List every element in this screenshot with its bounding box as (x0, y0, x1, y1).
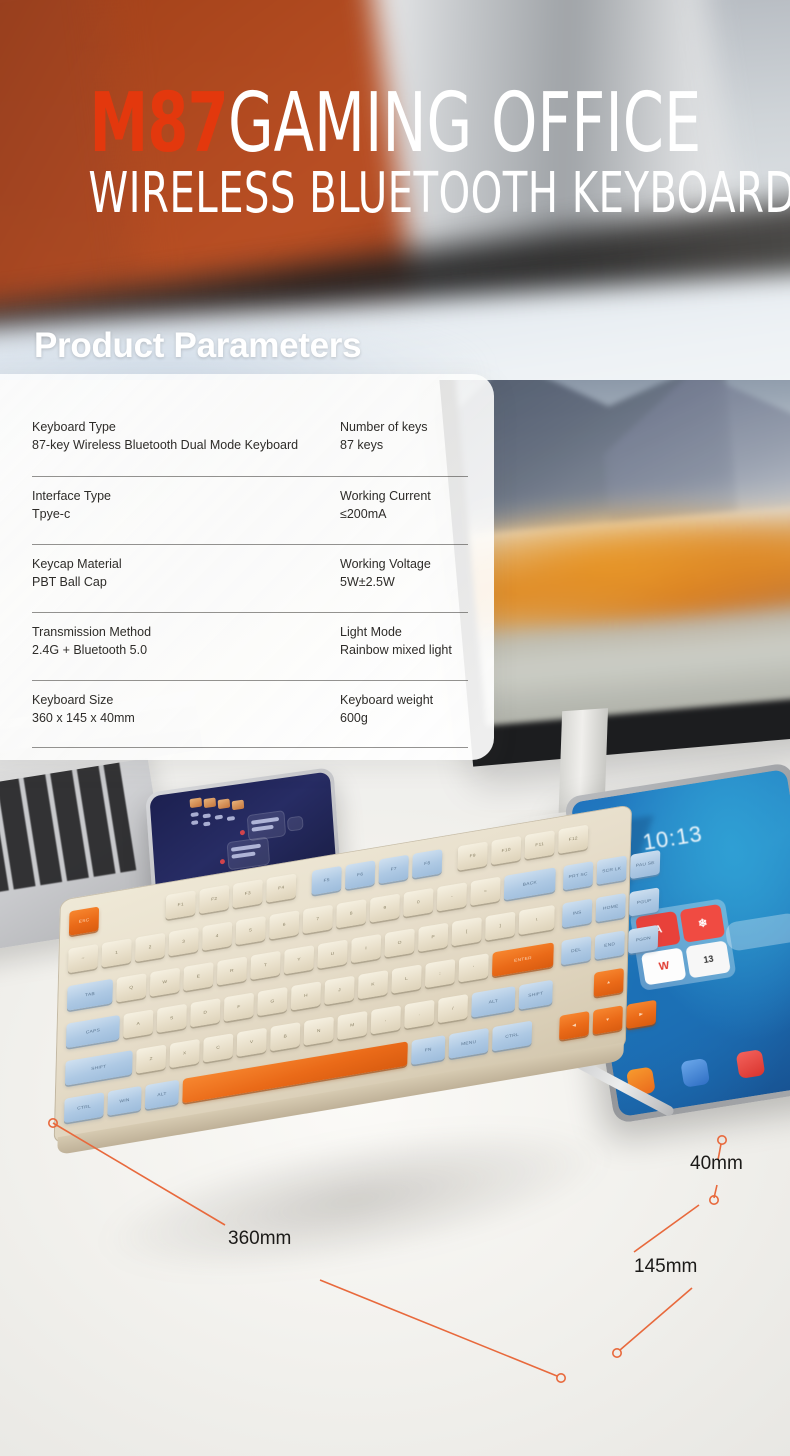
keycap-[interactable]: , (371, 1005, 401, 1034)
keycap-i[interactable]: I (351, 934, 381, 963)
spec-label: Keyboard Type (32, 419, 340, 437)
keycap-[interactable]: / (438, 994, 468, 1023)
spec-cell-left: Transmission Method2.4G + Bluetooth 5.0 (32, 624, 340, 660)
phone-text-line (203, 821, 210, 826)
spec-value: 87 keys (340, 437, 468, 455)
keycap-z[interactable]: Z (136, 1044, 166, 1073)
phone-text-line (227, 816, 235, 821)
spec-label: Working Voltage (340, 556, 468, 574)
keycap-fn[interactable]: FN (411, 1035, 445, 1065)
keycap-f12[interactable]: F12 (558, 825, 588, 854)
keycap-5[interactable]: 5 (236, 916, 266, 945)
hero-title-rest: GAMING OFFICE (228, 76, 701, 171)
spec-value: 2.4G + Bluetooth 5.0 (32, 642, 340, 660)
hero-subtitle-text: WIRELESS BLUETOOTH KEYBOARD (88, 165, 790, 224)
keycap-w[interactable]: W (150, 968, 180, 997)
keycap-[interactable]: = (470, 877, 500, 906)
keycap-[interactable]: ~ (68, 944, 98, 973)
keycap-y[interactable]: Y (284, 945, 314, 974)
keycap-f8[interactable]: F8 (412, 849, 442, 878)
keycap-8[interactable]: 8 (336, 899, 366, 928)
keycap-f7[interactable]: F7 (379, 855, 409, 884)
keycap-c[interactable]: C (203, 1033, 233, 1062)
app-icon-book (735, 1049, 765, 1079)
phone-text-line (215, 815, 223, 820)
spec-value: ≤200mA (340, 506, 468, 524)
keycap-[interactable]: \ (519, 905, 555, 935)
spec-row: Transmission Method2.4G + Bluetooth 5.0L… (32, 612, 468, 680)
keycap-enter[interactable]: ENTER (492, 942, 554, 977)
keycap-f2[interactable]: F2 (199, 885, 229, 914)
spec-cell-right: Keyboard weight600g (340, 692, 468, 728)
spec-table: Keyboard Type87-key Wireless Bluetooth D… (32, 408, 468, 748)
spec-cell-left: Keyboard Type87-key Wireless Bluetooth D… (32, 419, 340, 455)
keycap-[interactable]: ▶ (626, 1000, 656, 1029)
keycap-2[interactable]: 2 (135, 933, 165, 962)
keycap-q[interactable]: Q (116, 973, 146, 1002)
spec-cell-left: Keyboard Size360 x 145 x 40mm (32, 692, 340, 728)
phone-text-line (203, 813, 211, 818)
monitor-screen (455, 380, 790, 726)
product-marketing-page: 10:13 A ❄ W 13 ES (0, 0, 790, 1456)
spec-value: 87-key Wireless Bluetooth Dual Mode Keyb… (32, 437, 340, 455)
spec-value: 5W±2.5W (340, 574, 468, 592)
keycap-back[interactable]: BACK (504, 867, 556, 900)
keycap-f6[interactable]: F6 (345, 860, 375, 889)
phone-thumbnail (232, 800, 245, 811)
spec-label: Transmission Method (32, 624, 340, 642)
product-model-name: M87 (89, 76, 227, 171)
spec-row: Keyboard Type87-key Wireless Bluetooth D… (32, 408, 468, 476)
keycap-[interactable]: - (437, 882, 467, 911)
keycap-a[interactable]: A (123, 1009, 153, 1038)
hero-subtitle: WIRELESS BLUETOOTH KEYBOARD (0, 165, 790, 224)
keycap-scr-lk[interactable]: SCR LK (597, 855, 627, 884)
keycap-h[interactable]: H (291, 981, 321, 1010)
keycap-t[interactable]: T (250, 951, 280, 980)
keycap-v[interactable]: V (237, 1028, 267, 1057)
keycap-k[interactable]: K (358, 970, 388, 999)
app-icon-wps: W (641, 947, 686, 985)
keycap-3[interactable]: 3 (169, 927, 199, 956)
keycap-[interactable]: ◀ (559, 1011, 589, 1040)
keycap-pau-se[interactable]: PAU SE (630, 850, 660, 879)
spec-row: Keycap MaterialPBT Ball CapWorking Volta… (32, 544, 468, 612)
keycap-p[interactable]: P (418, 923, 448, 952)
keycap-l[interactable]: L (391, 964, 421, 993)
phone-notification-dot (220, 859, 225, 865)
phone-text-line (191, 812, 199, 817)
keycap-esc[interactable]: ESC (69, 906, 99, 935)
phone-thumbnail (218, 799, 231, 810)
spec-row: Interface TypeTpye-cWorking Current≤200m… (32, 476, 468, 544)
keycap-ctrl[interactable]: CTRL (492, 1021, 532, 1052)
keycap-4[interactable]: 4 (202, 921, 232, 950)
keycap-n[interactable]: N (304, 1016, 334, 1045)
keycap-caps[interactable]: CAPS (66, 1015, 120, 1048)
app-icon-calendar: 13 (686, 940, 731, 978)
keycap-1[interactable]: 1 (101, 938, 131, 967)
keycap-ins[interactable]: INS (562, 899, 592, 928)
keycap-f5[interactable]: F5 (312, 866, 342, 895)
keycap-d[interactable]: D (190, 998, 220, 1027)
spec-cell-left: Keycap MaterialPBT Ball Cap (32, 556, 340, 592)
hero-title-block: M87GAMING OFFICE WIRELESS BLUETOOTH KEYB… (0, 86, 790, 224)
spec-value: Tpye-c (32, 506, 340, 524)
spec-row: Keyboard Size360 x 145 x 40mmKeyboard we… (32, 680, 468, 748)
keycap-f9[interactable]: F9 (457, 841, 487, 870)
phone-thumbnail (190, 797, 203, 808)
spec-value: 600g (340, 710, 468, 728)
keycap-6[interactable]: 6 (269, 910, 299, 939)
app-icon-flower: ❄ (680, 903, 726, 942)
keycap-m[interactable]: M (337, 1011, 367, 1040)
keycap-f1[interactable]: F1 (166, 890, 196, 919)
keycap-g[interactable]: G (257, 987, 287, 1016)
keycap-shift[interactable]: SHIFT (65, 1050, 133, 1086)
keycap-[interactable]: ' (458, 953, 488, 982)
spec-cell-right: Light ModeRainbow mixed light (340, 624, 468, 660)
spec-label: Keyboard weight (340, 692, 468, 710)
keycap-s[interactable]: S (157, 1004, 187, 1033)
app-icon-music (681, 1058, 711, 1088)
keycap-[interactable]: ; (425, 959, 455, 988)
keycap-prt-sc[interactable]: PRT SC (563, 861, 593, 890)
keycap-[interactable]: ▲ (594, 968, 624, 997)
keycap-[interactable]: [ (452, 917, 482, 946)
keycap-[interactable]: . (404, 1000, 434, 1029)
keycap-u[interactable]: U (317, 939, 347, 968)
keycap-b[interactable]: B (270, 1022, 300, 1051)
spec-cell-right: Working Voltage5W±2.5W (340, 556, 468, 592)
keycap-[interactable]: ▼ (593, 1005, 623, 1034)
spec-table-card: Keyboard Type87-key Wireless Bluetooth D… (0, 374, 494, 760)
spec-label: Light Mode (340, 624, 468, 642)
keycap-alt[interactable]: ALT (471, 986, 515, 1018)
phone-notification-dot (240, 830, 245, 836)
keycap-[interactable]: ] (485, 911, 515, 940)
hero-title-line1: M87GAMING OFFICE (0, 86, 790, 161)
keycap-alt[interactable]: ALT (145, 1080, 179, 1110)
keycap-7[interactable]: 7 (303, 905, 333, 934)
keycap-0[interactable]: 0 (403, 888, 433, 917)
keycap-home[interactable]: HOME (596, 893, 626, 922)
keycap-menu[interactable]: MENU (449, 1028, 489, 1059)
spec-value: 360 x 145 x 40mm (32, 710, 340, 728)
keycap-f10[interactable]: F10 (491, 836, 521, 865)
keycap-f4[interactable]: F4 (266, 873, 296, 902)
phone-text-line (191, 820, 198, 825)
spec-label: Working Current (340, 488, 468, 506)
keycap-f[interactable]: F (224, 992, 254, 1021)
spec-cell-right: Number of keys87 keys (340, 419, 468, 455)
section-heading: Product Parameters (34, 326, 361, 366)
spec-cell-left: Interface TypeTpye-c (32, 488, 340, 524)
keycap-o[interactable]: O (385, 928, 415, 957)
keycap-e[interactable]: E (183, 962, 213, 991)
keycap-tab[interactable]: TAB (67, 979, 113, 1011)
spec-label: Number of keys (340, 419, 468, 437)
keycap-ctrl[interactable]: CTRL (64, 1092, 104, 1123)
keycap-win[interactable]: WIN (107, 1086, 141, 1116)
keycap-f11[interactable]: F11 (525, 830, 555, 859)
keycap-f3[interactable]: F3 (233, 879, 263, 908)
spec-cell-right: Working Current≤200mA (340, 488, 468, 524)
spec-label: Keyboard Size (32, 692, 340, 710)
phone-card (287, 816, 304, 832)
keycap-pgup[interactable]: PGUP (629, 887, 659, 916)
keycap-pgdn[interactable]: PGDN (628, 925, 658, 954)
keycap-9[interactable]: 9 (370, 893, 400, 922)
spec-value: PBT Ball Cap (32, 574, 340, 592)
keycap-x[interactable]: X (170, 1039, 200, 1068)
spec-label: Interface Type (32, 488, 340, 506)
spec-value: Rainbow mixed light (340, 642, 468, 660)
keycap-j[interactable]: J (324, 976, 354, 1005)
keycap-del[interactable]: DEL (561, 936, 591, 965)
keycap-shift[interactable]: SHIFT (519, 980, 553, 1010)
keycap-r[interactable]: R (217, 956, 247, 985)
keycap-end[interactable]: END (595, 930, 625, 959)
spec-label: Keycap Material (32, 556, 340, 574)
phone-thumbnail (204, 797, 217, 808)
